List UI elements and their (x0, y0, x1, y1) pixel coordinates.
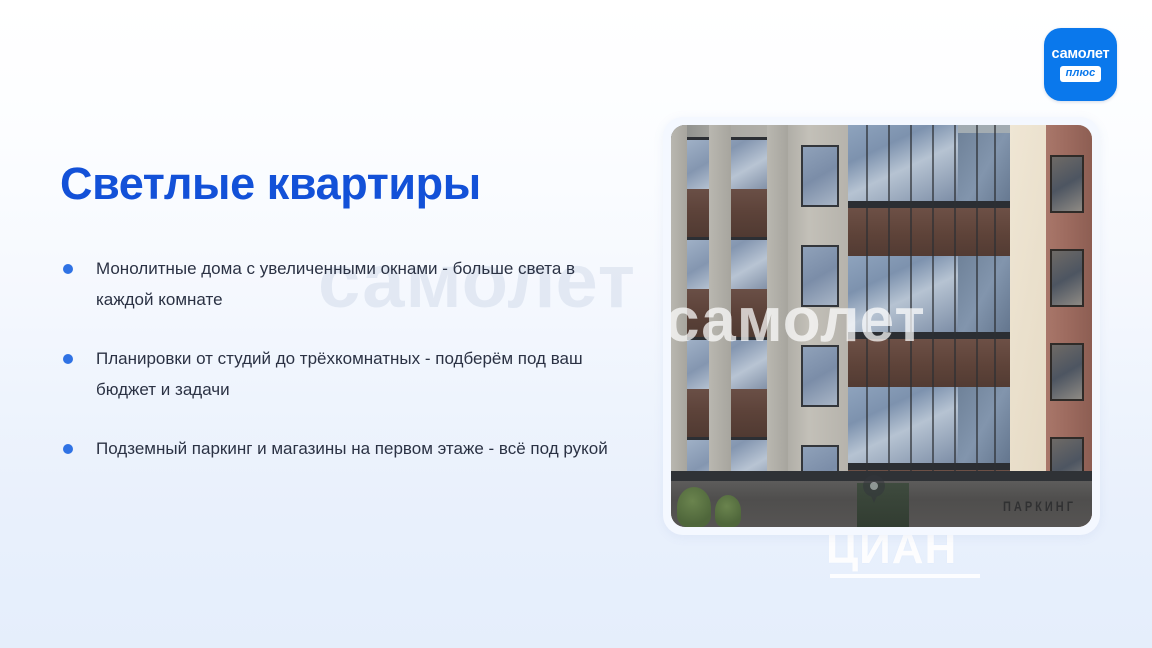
facade-center-pier (788, 125, 848, 527)
list-item-text: Монолитные дома с увеличенными окнами - … (96, 259, 575, 309)
logo-wordmark: самолет (1052, 47, 1110, 62)
facade-left-wing (671, 125, 788, 527)
facade-pilaster (709, 125, 731, 527)
samolet-plus-logo[interactable]: самолет плюс (1044, 28, 1117, 101)
list-item: Планировки от студий до трёхкомнатных - … (60, 343, 620, 405)
list-item-text: Подземный паркинг и магазины на первом э… (96, 439, 608, 458)
building-entrance (857, 483, 909, 527)
bullet-dot-icon (63, 264, 73, 274)
slide-root: самолет ЦИАН самолет плюс Светлые кварти… (0, 0, 1152, 648)
cian-watermark-underline (830, 574, 980, 578)
facade-right-block (1010, 125, 1092, 527)
parking-sign-text: ПАРКИНГ (1003, 500, 1076, 515)
logo-plus-badge: плюс (1060, 66, 1102, 83)
bullet-dot-icon (63, 354, 73, 364)
facade-pilaster (671, 125, 687, 527)
facade-pilaster (767, 125, 788, 527)
feature-list: Монолитные дома с увеличенными окнами - … (60, 253, 620, 464)
glazed-balcony-tower (848, 125, 1010, 527)
list-item-text: Планировки от студий до трёхкомнатных - … (96, 349, 583, 399)
list-item: Монолитные дома с увеличенными окнами - … (60, 253, 620, 315)
building-photo: ПАРКИНГ самолет (671, 125, 1092, 527)
bullet-dot-icon (63, 444, 73, 454)
content-column: Светлые квартиры Монолитные дома с увели… (60, 160, 620, 464)
page-title: Светлые квартиры (60, 160, 620, 207)
photo-card[interactable]: ПАРКИНГ самолет (663, 117, 1100, 535)
entrance-canopy (671, 471, 1092, 481)
ground-floor: ПАРКИНГ (671, 481, 1092, 527)
list-item: Подземный паркинг и магазины на первом э… (60, 433, 620, 464)
